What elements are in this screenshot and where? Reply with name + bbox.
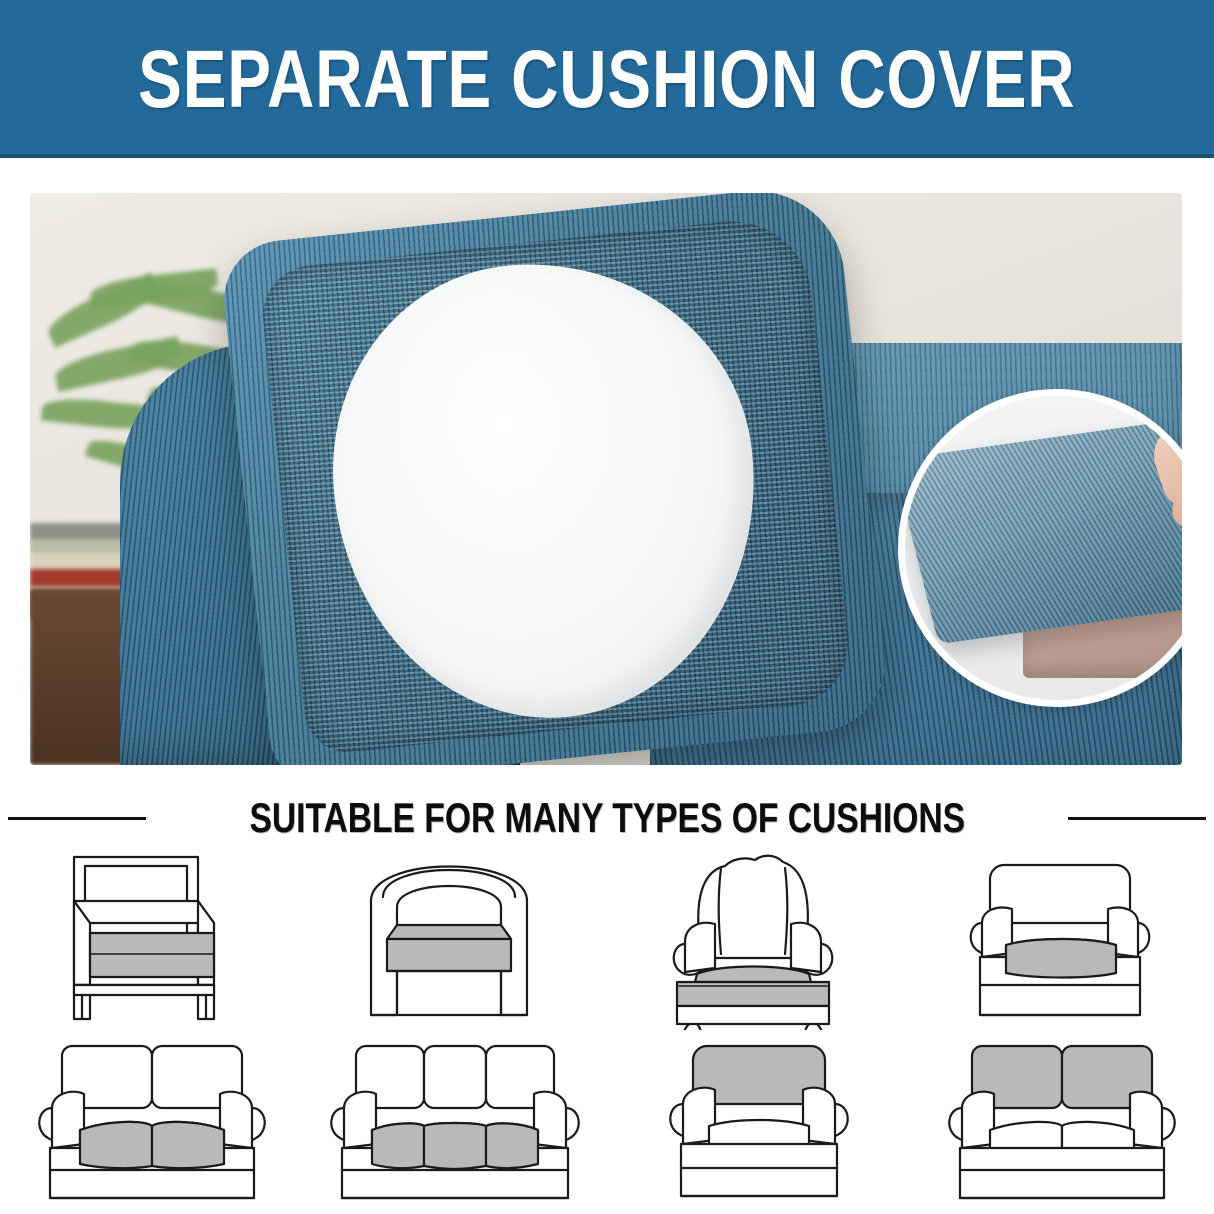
barrel-tub-chair-icon: [355, 849, 555, 1027]
wood-frame-armchair-icon: [52, 849, 252, 1027]
furniture-item-armchair-back-cushion: [607, 1030, 911, 1214]
furniture-item-two-seat-loveseat: [0, 1030, 304, 1214]
furniture-row-1: [0, 846, 1214, 1030]
furniture-type-grid: [0, 846, 1214, 1214]
armchair-back-cushion-icon: [659, 1036, 859, 1208]
furniture-item-loveseat-back-cushions: [911, 1030, 1214, 1214]
furniture-item-barrel-tub-chair: [304, 846, 608, 1030]
circular-detail-inset: [898, 389, 1182, 707]
divider-line-left: [8, 817, 146, 820]
header-banner: SEPARATE CUSHION COVER: [0, 0, 1214, 158]
page-title: SEPARATE CUSHION COVER: [138, 39, 1075, 121]
furniture-item-rolled-arm-armchair: [911, 846, 1214, 1030]
furniture-item-wood-frame-armchair: [0, 846, 304, 1030]
hero-product-photo: [30, 193, 1182, 765]
furniture-item-three-seat-sofa: [304, 1030, 608, 1214]
furniture-row-2: [0, 1030, 1214, 1214]
section-heading: SUITABLE FOR MANY TYPES OF CUSHIONS: [0, 790, 1214, 846]
rolled-arm-armchair-icon: [962, 849, 1162, 1027]
furniture-item-wingback-chair: [607, 846, 911, 1030]
divider-line-right: [1068, 817, 1206, 820]
three-seat-sofa-icon: [322, 1036, 588, 1208]
loveseat-back-cushions-icon: [942, 1036, 1182, 1208]
two-seat-loveseat-icon: [32, 1036, 272, 1208]
section-title: SUITABLE FOR MANY TYPES OF CUSHIONS: [249, 797, 965, 839]
wingback-chair-icon: [659, 846, 859, 1030]
